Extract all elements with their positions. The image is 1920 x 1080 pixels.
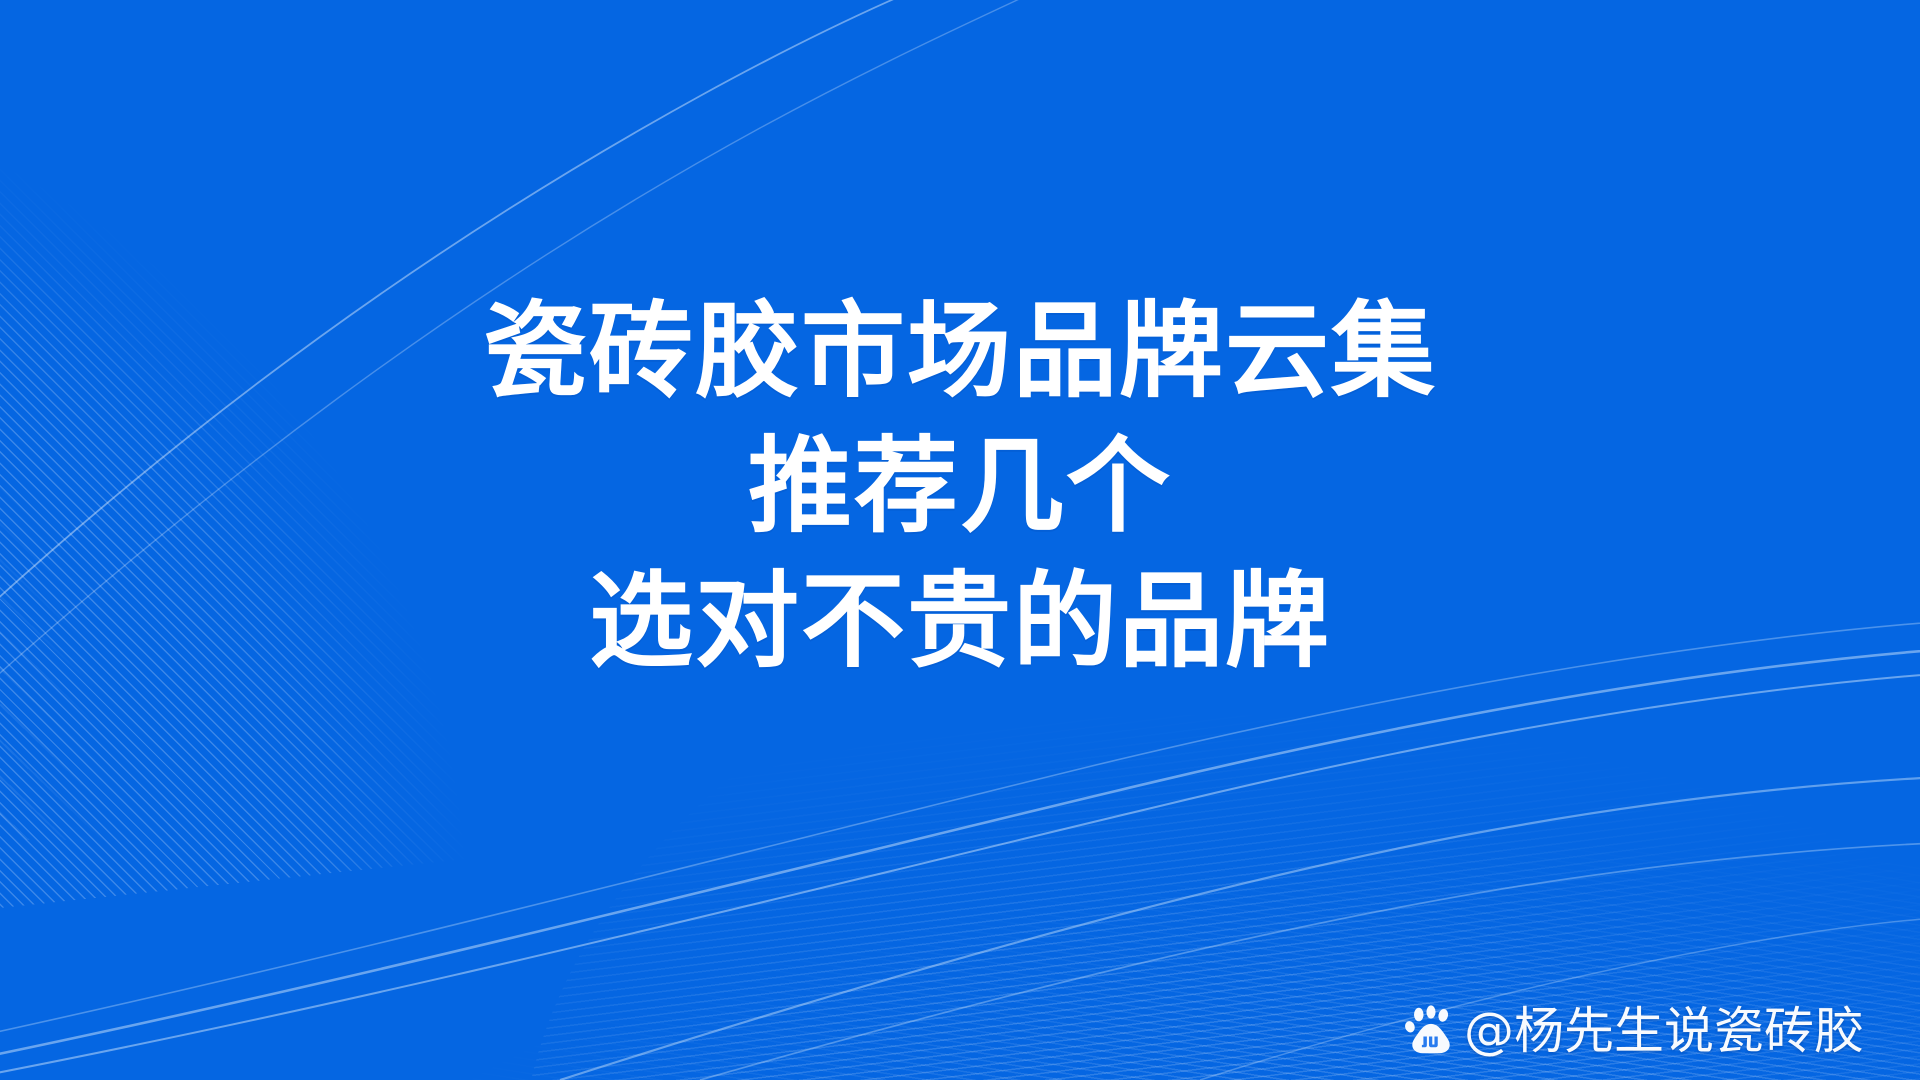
title-line-1: 瓷砖胶市场品牌云集	[0, 284, 1920, 419]
poster-title: 瓷砖胶市场品牌云集 推荐几个 选对不贵的品牌	[0, 284, 1920, 690]
title-line-3: 选对不贵的品牌	[0, 554, 1920, 689]
title-line-2: 推荐几个	[0, 419, 1920, 554]
watermark: @杨先生说瓷砖胶	[1404, 1004, 1864, 1058]
baidu-paw-icon	[1404, 1004, 1458, 1058]
watermark-handle: @杨先生说瓷砖胶	[1464, 1006, 1864, 1056]
poster-canvas: 瓷砖胶市场品牌云集 推荐几个 选对不贵的品牌 @杨先生说瓷砖胶	[0, 0, 1920, 1080]
